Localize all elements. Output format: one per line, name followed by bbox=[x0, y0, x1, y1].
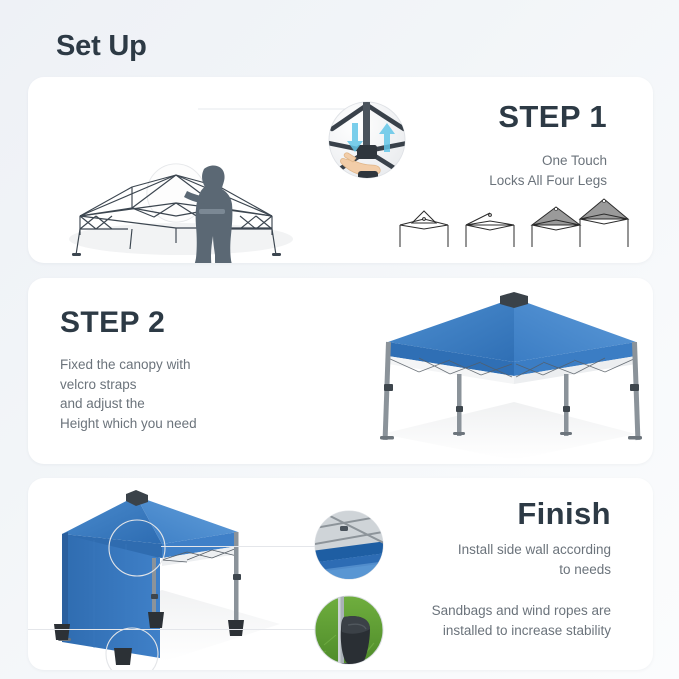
finish-canopy-illustration bbox=[32, 482, 312, 668]
step-1-card: STEP 1 One Touch Locks All Four Legs bbox=[28, 77, 653, 263]
finish-leader-line-bottom bbox=[28, 628, 318, 631]
finish-note-1-line-2: to needs bbox=[361, 560, 611, 580]
step-2-text-block: STEP 2 Fixed the canopy with velcro stra… bbox=[60, 306, 310, 433]
finish-note-2-line-1: Sandbags and wind ropes are bbox=[351, 601, 611, 621]
step-1-sequence-icons bbox=[394, 195, 634, 250]
finish-note-sandbags: Sandbags and wind ropes are installed to… bbox=[351, 601, 611, 640]
step-1-subtext: One Touch Locks All Four Legs bbox=[347, 151, 607, 190]
step-1-text-block: STEP 1 One Touch Locks All Four Legs bbox=[347, 99, 607, 190]
step-2-card: STEP 2 Fixed the canopy with velcro stra… bbox=[28, 278, 653, 464]
step-2-canopy-illustration bbox=[364, 284, 653, 464]
step-2-subtext-line-2: velcro straps bbox=[60, 375, 310, 395]
finish-note-2-line-2: installed to increase stability bbox=[351, 621, 611, 641]
setup-instruction-page: Set Up bbox=[0, 0, 679, 679]
step-1-subtext-line-2: Locks All Four Legs bbox=[347, 171, 607, 191]
page-title: Set Up bbox=[56, 30, 147, 63]
finish-note-1-line-1: Install side wall according bbox=[361, 540, 611, 560]
step-2-subtext-line-1: Fixed the canopy with bbox=[60, 355, 310, 375]
step-1-heading: STEP 1 bbox=[347, 99, 607, 135]
finish-heading-block: Finish bbox=[331, 496, 611, 532]
step-2-subtext-line-3: and adjust the bbox=[60, 394, 310, 414]
finish-note-side-wall: Install side wall according to needs bbox=[361, 540, 611, 579]
step-2-subtext: Fixed the canopy with velcro straps and … bbox=[60, 355, 310, 433]
step-2-heading: STEP 2 bbox=[60, 306, 310, 340]
step-2-subtext-line-4: Height which you need bbox=[60, 414, 310, 434]
step-1-subtext-line-1: One Touch bbox=[347, 151, 607, 171]
finish-heading: Finish bbox=[331, 496, 611, 532]
finish-card: Finish Install side wall according to ne… bbox=[28, 478, 653, 670]
